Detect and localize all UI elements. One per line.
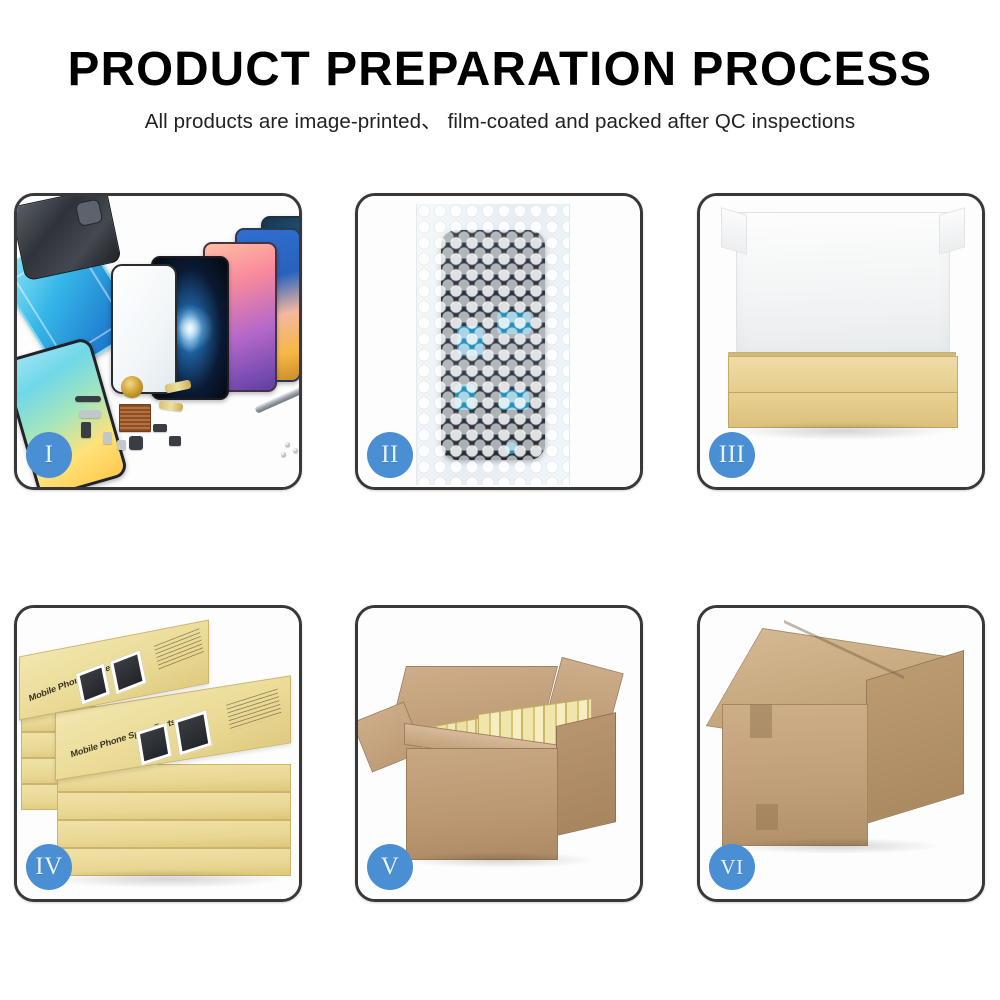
- carton-front-face: [406, 748, 558, 860]
- vibration-motor-part: [121, 376, 143, 398]
- step-2-image: II: [358, 196, 640, 487]
- process-step-grid: I II: [0, 0, 1000, 1000]
- retail-box-slab-7: [57, 792, 291, 820]
- retail-box-window-1a: [75, 662, 111, 706]
- sealed-carton-ground-shadow: [734, 838, 940, 854]
- screen-highlight-a: [457, 326, 483, 356]
- retail-box-slab-6: [57, 820, 291, 848]
- earpiece-mesh-part: [75, 396, 101, 402]
- retail-box-spec-text-2: [226, 689, 282, 732]
- step-3-image: III: [700, 196, 982, 487]
- sealed-carton-front-face: [722, 704, 868, 846]
- box-ground-shadow: [736, 422, 948, 440]
- screen-highlight-e: [505, 442, 517, 454]
- process-step-panel-3: III: [697, 193, 985, 490]
- glass-lens-panel: [111, 264, 177, 394]
- step-5-image: V: [358, 608, 640, 899]
- connector-part-b: [81, 422, 91, 438]
- screw-part-b: [293, 448, 298, 453]
- step-4-image: Mobile Phone Spare Parts Mobile Phone Sp…: [17, 608, 299, 899]
- step-1-image: I: [17, 196, 299, 487]
- screen-highlight-d: [499, 390, 529, 410]
- chip-part: [153, 424, 167, 432]
- retail-box-spec-text-1: [154, 628, 204, 670]
- bubble-wrap-bag: [416, 204, 570, 485]
- flex-cable-part-b: [159, 400, 184, 411]
- step-badge-6: VI: [709, 844, 755, 890]
- process-step-panel-5: V: [355, 605, 643, 902]
- process-step-panel-1: I: [14, 193, 302, 490]
- retail-box-window-2b: [173, 709, 213, 756]
- screen-highlight-b: [497, 312, 531, 334]
- step-badge-2: II: [367, 432, 413, 478]
- logic-board-grid-part: [119, 404, 151, 432]
- speaker-part: [117, 440, 126, 450]
- stack-ground-shadow: [47, 870, 287, 888]
- wrapped-phone-part: [441, 230, 545, 460]
- sealed-carton-right-side: [866, 650, 964, 824]
- carton-ground-shadow: [404, 852, 594, 868]
- button-part: [169, 436, 181, 446]
- step-6-image: VI: [700, 608, 982, 899]
- screw-part-a: [285, 442, 290, 447]
- step-badge-3: III: [709, 432, 755, 478]
- screw-part-c: [281, 452, 286, 457]
- step-badge-1: I: [26, 432, 72, 478]
- carton-right-side: [556, 712, 616, 836]
- retail-box-window-1b: [109, 649, 147, 695]
- process-step-panel-2: II: [355, 193, 643, 490]
- connector-part-a: [79, 410, 101, 418]
- sim-tray-part: [103, 432, 112, 444]
- step-badge-4: IV: [26, 844, 72, 890]
- step-badge-5: V: [367, 844, 413, 890]
- carton-tape-lower: [756, 804, 778, 830]
- carton-tape-upper: [750, 704, 772, 738]
- process-step-panel-4: Mobile Phone Spare Parts Mobile Phone Sp…: [14, 605, 302, 902]
- mailer-box-white-lid: [736, 212, 950, 364]
- process-step-panel-6: VI: [697, 605, 985, 902]
- camera-module-part: [129, 436, 143, 450]
- screen-highlight-c: [455, 384, 475, 410]
